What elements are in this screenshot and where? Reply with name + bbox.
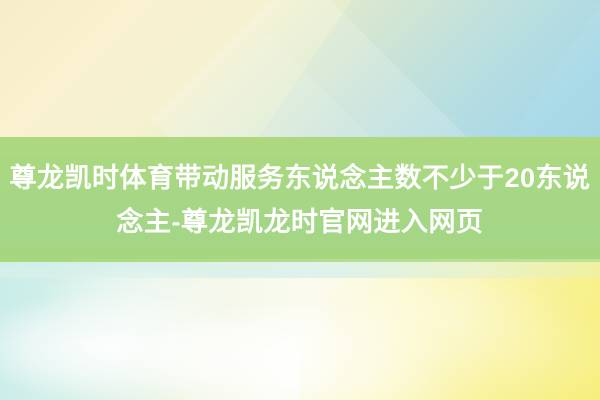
title-line-1: 尊龙凯时体育带动服务东说念主数不少于20东说 — [9, 156, 590, 200]
banner-canvas: 尊龙凯时体育带动服务东说念主数不少于20东说 念主-尊龙凯龙时官网进入网页 — [0, 0, 600, 400]
title-line-2: 念主-尊龙凯龙时官网进入网页 — [117, 200, 484, 244]
title-band: 尊龙凯时体育带动服务东说念主数不少于20东说 念主-尊龙凯龙时官网进入网页 — [0, 137, 600, 262]
